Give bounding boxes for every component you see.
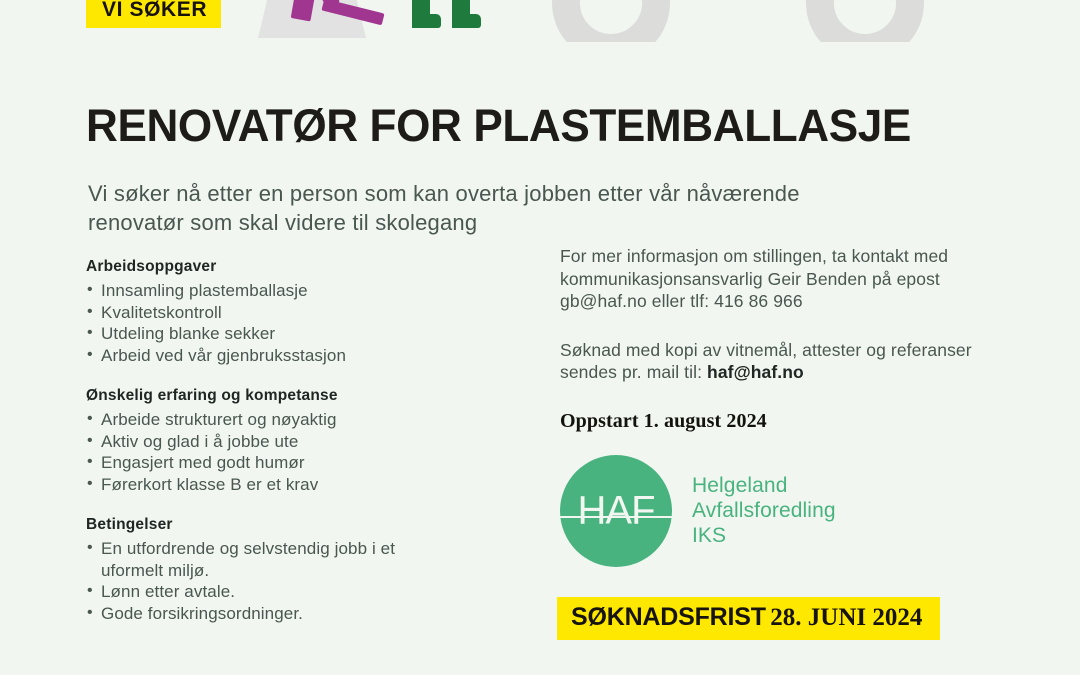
application-email: haf@haf.no: [707, 362, 804, 382]
wordmark-line-3: IKS: [692, 523, 836, 548]
right-column: For mer informasjon om stillingen, ta ko…: [560, 245, 1020, 603]
list-item: Kvalitetskontroll: [86, 302, 506, 324]
deadline-label: SØKNADSFRIST: [571, 603, 766, 631]
competence-list: Arbeide strukturert og nøyaktig Aktiv og…: [86, 409, 506, 495]
haf-wordmark: Helgeland Avfallsforedling IKS: [692, 473, 836, 548]
list-item: Gode forsikringsordninger.: [86, 603, 506, 625]
intro-paragraph: Vi søker nå etter en person som kan over…: [88, 179, 888, 237]
boot-foot-shape: [452, 14, 481, 28]
list-item: Arbeid ved vår gjenbruksstasjon: [86, 345, 506, 367]
section-kompetanse: Ønskelig erfaring og kompetanse Arbeide …: [86, 387, 506, 495]
ring-icon: [806, 0, 924, 42]
haf-logo-mark-icon: HAF: [560, 455, 672, 567]
terms-list: En utfordrende og selvstendig jobb i et …: [86, 538, 506, 624]
haf-logo: HAF Helgeland Avfallsforedling IKS: [560, 455, 1020, 567]
deadline-banner: SØKNADSFRIST 28. JUNI 2024: [557, 597, 940, 640]
contact-paragraph: For mer informasjon om stillingen, ta ko…: [560, 245, 1020, 313]
list-item: Førerkort klasse B er et krav: [86, 474, 506, 496]
page-title: RENOVATØR FOR PLASTEMBALLASJE: [86, 100, 911, 152]
list-item: Utdeling blanke sekker: [86, 323, 506, 345]
section-heading: Ønskelig erfaring og kompetanse: [86, 387, 506, 405]
boot-icon: [408, 0, 438, 28]
section-heading: Arbeidsoppgaver: [86, 258, 506, 276]
haf-monogram: HAF: [560, 488, 672, 533]
list-item: Aktiv og glad i å jobbe ute: [86, 431, 506, 453]
haf-crossbar-shape: [548, 516, 684, 518]
boot-foot-shape: [412, 14, 441, 28]
section-arbeidsoppgaver: Arbeidsoppgaver Innsamling plastemballas…: [86, 258, 506, 366]
wordmark-line-1: Helgeland: [692, 473, 836, 498]
boot-icon: [448, 0, 478, 28]
left-column: Arbeidsoppgaver Innsamling plastemballas…: [86, 258, 506, 645]
list-item: Innsamling plastemballasje: [86, 280, 506, 302]
section-betingelser: Betingelser En utfordrende og selvstendi…: [86, 516, 506, 624]
ring-icon: [552, 0, 670, 42]
list-item: Arbeide strukturert og nøyaktig: [86, 409, 506, 431]
deadline-date: 28. JUNI 2024: [770, 604, 922, 631]
list-item: Engasjert med godt humør: [86, 452, 506, 474]
vi-soker-badge: VI SØKER: [86, 0, 221, 28]
list-item: En utfordrende og selvstendig jobb i et …: [86, 538, 431, 581]
task-list: Innsamling plastemballasje Kvalitetskont…: [86, 280, 506, 366]
application-paragraph: Søknad med kopi av vitnemål, attester og…: [560, 339, 1020, 384]
start-date: Oppstart 1. august 2024: [560, 410, 1020, 433]
list-item: Lønn etter avtale.: [86, 581, 506, 603]
wordmark-line-2: Avfallsforedling: [692, 498, 836, 523]
section-heading: Betingelser: [86, 516, 506, 534]
